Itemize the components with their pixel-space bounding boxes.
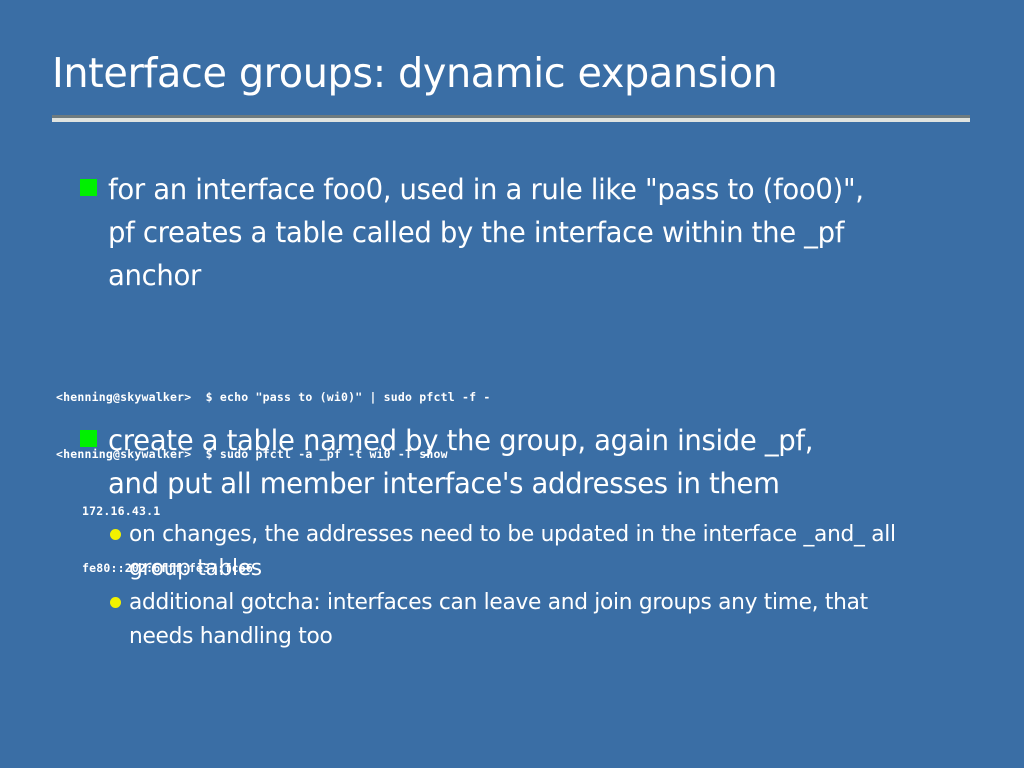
terminal-line: <henning@skywalker> $ echo "pass to (wi0… bbox=[56, 388, 756, 407]
terminal-output-line: 172.16.43.1 bbox=[56, 502, 756, 521]
terminal-line: <henning@skywalker> $ sudo pfctl -a _pf … bbox=[56, 445, 756, 464]
title-block: Interface groups: dynamic expansion bbox=[52, 52, 972, 95]
title-rule-highlight bbox=[52, 118, 970, 122]
terminal-transcript: <henning@skywalker> $ echo "pass to (wi0… bbox=[56, 350, 756, 616]
title-underline-rule bbox=[52, 115, 970, 122]
list-item: for an interface foo0, used in a rule li… bbox=[0, 168, 1024, 297]
terminal-output-line: fe80::202:6fff:fe37:fc66 bbox=[56, 559, 756, 578]
green-square-bullet-icon bbox=[80, 179, 97, 196]
bullet-text: for an interface foo0, used in a rule li… bbox=[108, 168, 870, 297]
presentation-slide: Interface groups: dynamic expansion for … bbox=[0, 0, 1024, 768]
page-title: Interface groups: dynamic expansion bbox=[52, 52, 944, 95]
